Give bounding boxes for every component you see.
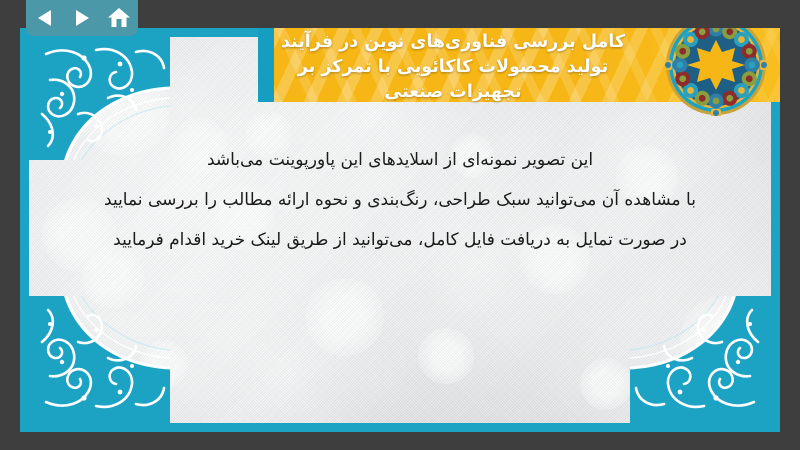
slide-body-line-2: با مشاهده آن می‌توانید سبک طراحی، رنگ‌بن… [50,180,750,220]
title-band-accent-block [258,28,274,102]
slide-body-line-1: این تصویر نمونه‌ای از اسلایدهای این پاور… [50,140,750,180]
home-icon [107,7,131,29]
triangle-left-icon [37,9,53,27]
triangle-right-icon [74,9,90,27]
frame-border-left [20,28,29,432]
slide-canvas: کامل بررسی فناوری‌های نوین در فرآیند تول… [20,28,780,432]
slide-body-text: این تصویر نمونه‌ای از اسلایدهای این پاور… [50,140,750,260]
slide-navigation-bar [26,0,138,36]
frame-border-bottom [20,423,780,432]
persian-medallion-icon [665,28,767,116]
previous-slide-button[interactable] [32,6,58,30]
slide-body-line-3: در صورت تمایل به دریافت فایل کامل، می‌تو… [50,220,750,260]
next-slide-button[interactable] [69,6,95,30]
home-button[interactable] [106,6,132,30]
presentation-viewer: کامل بررسی فناوری‌های نوین در فرآیند تول… [0,0,800,450]
